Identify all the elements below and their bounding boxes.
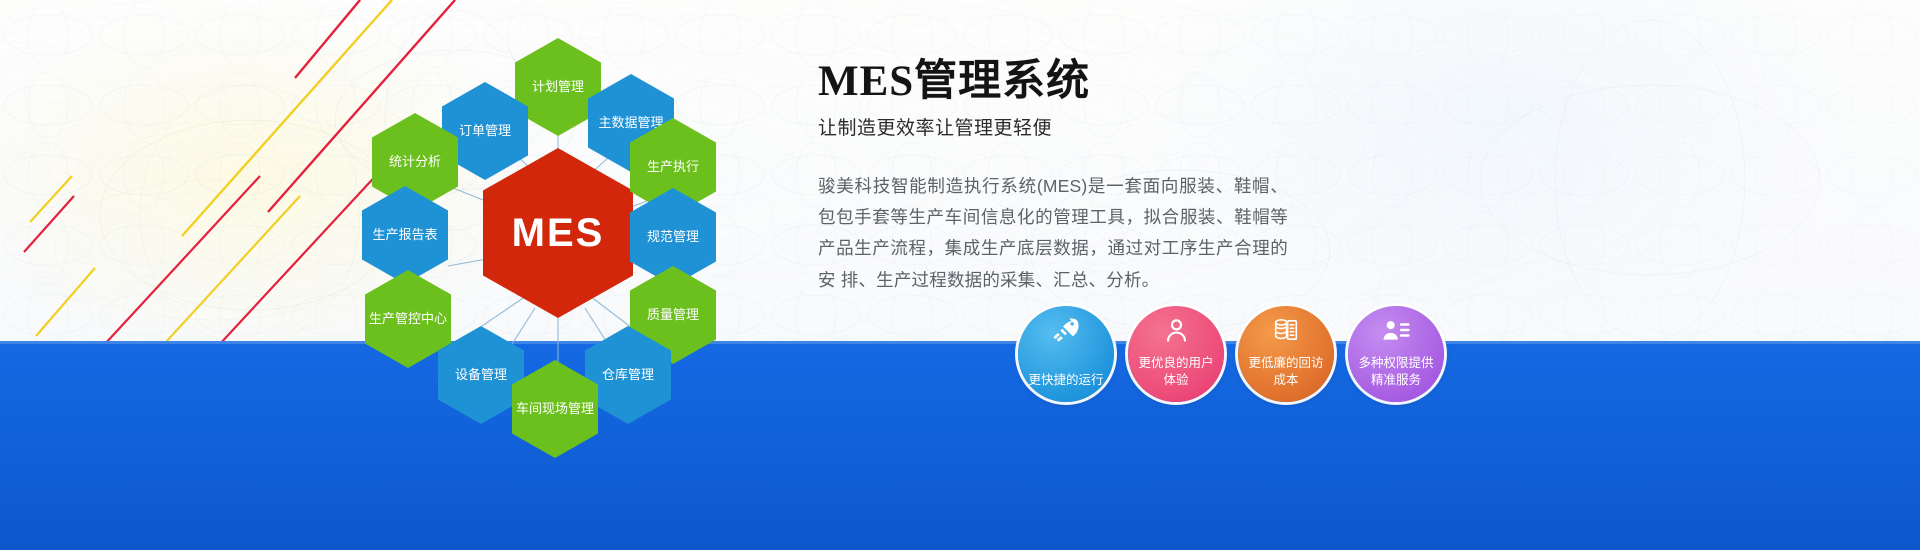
hex-label: 生产执行 — [643, 160, 703, 175]
permissions-icon — [1348, 315, 1444, 345]
hexagon-diagram: MES 计划管理 订单管理 主数据管理 生产执行 统计分析 规范管理 生产报告表… — [330, 8, 800, 438]
hex-label: 订单管理 — [455, 124, 515, 139]
headline-column: MES管理系统 让制造更效率让管理更轻便 骏美科技智能制造执行系统(MES)是一… — [818, 58, 1288, 296]
feature-badge-speed[interactable]: 更快捷的运行 — [1018, 306, 1114, 402]
mes-banner: MES 计划管理 订单管理 主数据管理 生产执行 统计分析 规范管理 生产报告表… — [0, 0, 1920, 550]
hex-label: 生产报告表 — [368, 228, 441, 243]
hex-label: 统计分析 — [385, 155, 445, 170]
badge-label: 更低廉的回访成本 — [1238, 355, 1334, 402]
feature-badge-row: 更快捷的运行 更优良的用户体验 — [1018, 306, 1438, 406]
coins-icon — [1238, 315, 1334, 345]
hex-core-label: MES — [508, 210, 609, 256]
description-paragraph: 骏美科技智能制造执行系统(MES)是一套面向服装、鞋帽、包包手套等生产车间信息化… — [818, 171, 1288, 296]
feature-badge-permissions[interactable]: 多种权限提供精准服务 — [1348, 306, 1444, 402]
hex-label: 规范管理 — [643, 230, 703, 245]
badge-label: 更优良的用户体验 — [1128, 355, 1224, 402]
hex-label: 质量管理 — [643, 308, 703, 323]
hex-label: 计划管理 — [528, 80, 588, 95]
rocket-icon — [1018, 315, 1114, 345]
badge-label: 更快捷的运行 — [1018, 372, 1114, 403]
hex-label: 仓库管理 — [598, 368, 658, 383]
page-subtitle: 让制造更效率让管理更轻便 — [818, 113, 1288, 140]
hex-label: 设备管理 — [451, 368, 511, 383]
badge-label: 多种权限提供精准服务 — [1348, 355, 1444, 402]
feature-badge-experience[interactable]: 更优良的用户体验 — [1128, 306, 1224, 402]
page-title: MES管理系统 — [818, 58, 1288, 106]
background-bottom-band — [0, 341, 1920, 550]
hex-label: 车间现场管理 — [512, 402, 598, 417]
hex-label: 生产管控中心 — [365, 312, 451, 327]
title-divider — [818, 154, 1238, 155]
user-icon — [1128, 315, 1224, 345]
feature-badge-cost[interactable]: 更低廉的回访成本 — [1238, 306, 1334, 402]
